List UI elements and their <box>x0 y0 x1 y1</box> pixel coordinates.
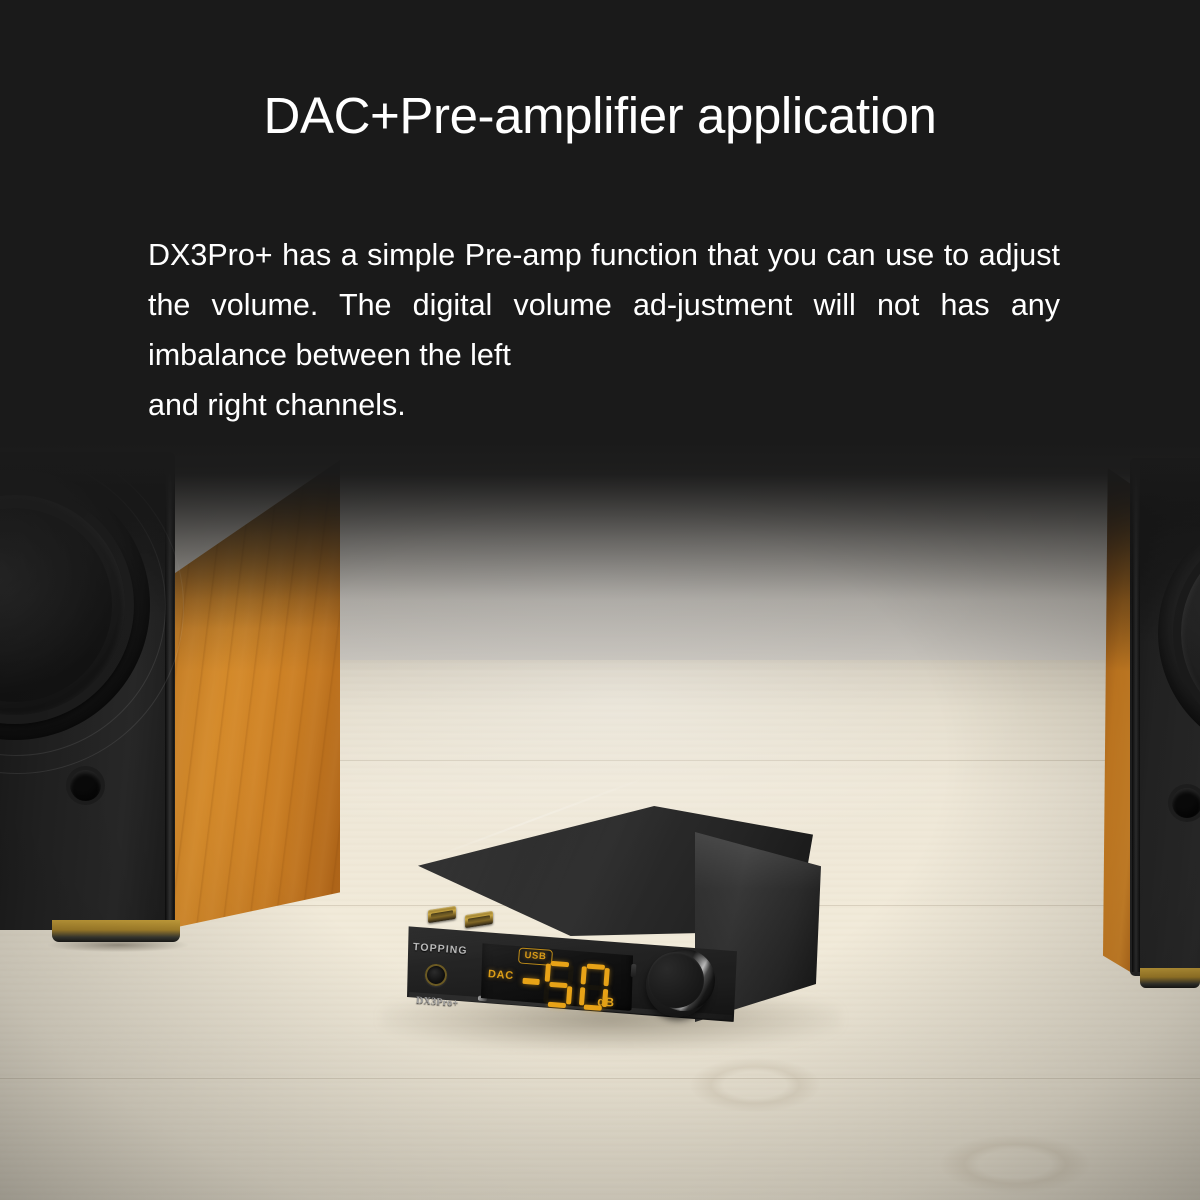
display-content: USB DAC <box>478 938 635 1021</box>
segment-a <box>587 964 605 970</box>
display-ir-sensor <box>631 964 637 977</box>
minus-sign-segment <box>522 978 539 985</box>
product-marketing-image: TOPPING DX3Pro+ USB DAC <box>0 0 1200 1200</box>
segment-c <box>566 986 572 1004</box>
segment-d <box>548 1002 566 1008</box>
volume-digit-tens <box>543 960 574 1008</box>
body-paragraph-main: DX3Pro+ has a simple Pre-amp function th… <box>148 238 1060 372</box>
segment-g <box>585 984 603 990</box>
right-speaker-port <box>1172 788 1200 818</box>
segment-a <box>551 961 569 967</box>
segment-e <box>579 987 585 1005</box>
right-speaker-baffle-edge <box>1132 462 1140 972</box>
segment-b <box>568 965 574 983</box>
body-paragraph: DX3Pro+ has a simple Pre-amp function th… <box>148 230 1060 430</box>
segment-f <box>581 966 587 984</box>
floor-knot <box>690 1058 820 1112</box>
floor-knot <box>940 1135 1090 1193</box>
body-paragraph-tail: and right channels. <box>148 380 1060 430</box>
decibel-unit-label: dB <box>597 994 615 1009</box>
segment-b <box>603 968 609 986</box>
volume-knob-face[interactable] <box>648 952 704 1008</box>
right-speaker-foot <box>1140 968 1200 988</box>
dx3pro-plus-dac-amplifier: TOPPING DX3Pro+ USB DAC <box>395 806 825 1052</box>
segment-e <box>543 984 549 1002</box>
segment-f <box>545 963 551 981</box>
page-title: DAC+Pre-amplifier application <box>0 86 1200 145</box>
left-speaker-baffle-edge <box>165 455 174 927</box>
floor-plank-seam <box>0 1078 1200 1079</box>
rca-jack-right <box>465 911 493 928</box>
marketing-copy-block: DAC+Pre-amplifier application DX3Pro+ ha… <box>0 0 1200 470</box>
segment-g <box>549 981 567 987</box>
left-speaker-port <box>70 770 101 801</box>
dac-mode-label: DAC <box>488 968 515 982</box>
left-speaker-foot <box>52 920 180 942</box>
rca-jack-left <box>428 906 456 923</box>
